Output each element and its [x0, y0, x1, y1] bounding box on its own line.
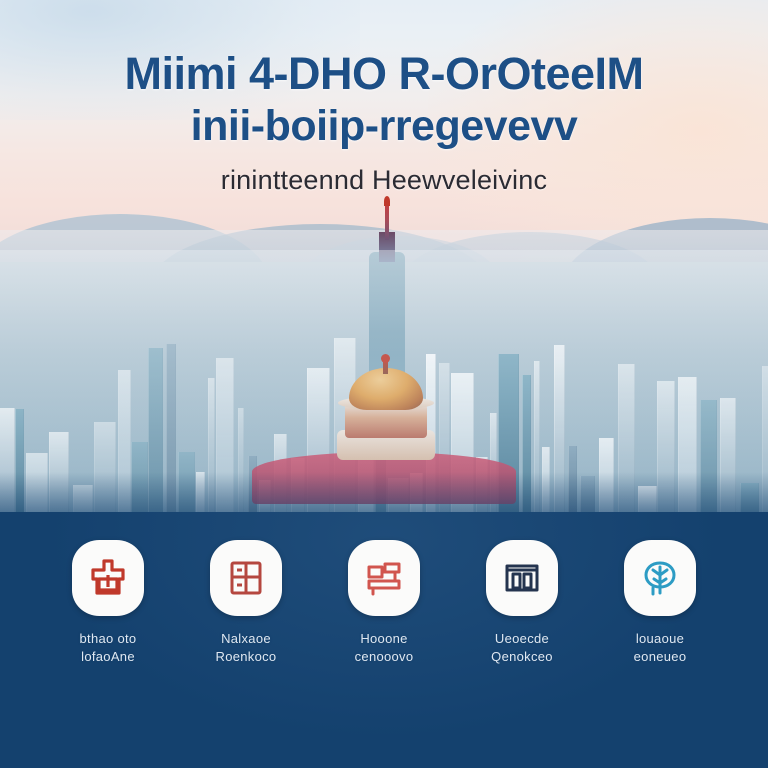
skyline-building — [94, 422, 116, 512]
feature-label-line-2: Roenkoco — [216, 648, 277, 666]
feature-label: Ueoecde Qenokceo — [491, 630, 553, 666]
skyline-building — [73, 485, 93, 512]
feature-item[interactable]: Ueoecde Qenokceo — [466, 540, 578, 666]
feature-item[interactable]: Hooone cenooovo — [328, 540, 440, 666]
abstract-glyph-icon — [361, 555, 407, 601]
feature-badge[interactable] — [348, 540, 420, 616]
skyline-building — [678, 377, 697, 512]
skyline-building — [638, 486, 657, 512]
feature-badge[interactable] — [210, 540, 282, 616]
feature-label-line-2: lofaoAne — [80, 648, 137, 666]
feature-label: louaoue eoneueo — [634, 630, 687, 666]
skyline-building — [196, 472, 205, 512]
skyline-building — [0, 408, 15, 512]
central-tower-spire — [385, 200, 389, 240]
feature-label-line-2: eoneueo — [634, 648, 687, 666]
skyline-building — [166, 344, 176, 512]
skyline-building — [49, 432, 69, 512]
window-grid-icon — [223, 555, 269, 601]
feature-badge[interactable] — [624, 540, 696, 616]
skyline-building — [554, 345, 565, 512]
skyline-building — [740, 483, 759, 512]
skyline-building — [700, 400, 717, 512]
skyline-building — [15, 409, 24, 512]
skyline-building — [580, 476, 595, 512]
feature-panel: bthao oto lofaoAne — [0, 512, 768, 768]
poster-root: Miimi 4-DHO R-OrOteeIM inii-boiip-rregev… — [0, 0, 768, 768]
feature-badge[interactable] — [486, 540, 558, 616]
skyline-building — [522, 375, 531, 512]
skyline-building — [568, 446, 577, 512]
skyline-building — [216, 358, 234, 512]
skyline-building — [599, 438, 614, 512]
feature-label-line-1: Nalxaoe — [216, 630, 277, 648]
skyline-building — [534, 361, 540, 512]
skyline-building — [542, 447, 550, 512]
gateway-pillars-icon — [499, 555, 545, 601]
skyline-building — [618, 364, 635, 512]
hero-title-line-1: Miimi 4-DHO R-OrOteeIM — [0, 48, 768, 100]
feature-label-line-1: bthao oto — [80, 630, 137, 648]
skyline-building — [148, 348, 163, 512]
building-stamp-icon — [85, 555, 131, 601]
feature-label: bthao oto lofaoAne — [80, 630, 137, 666]
feature-label: Hooone cenooovo — [355, 630, 414, 666]
skyline-building — [208, 378, 215, 512]
feature-label-line-2: cenooovo — [355, 648, 414, 666]
hero-title-line-2: inii-boiip-rregevevv — [0, 100, 768, 152]
feature-item[interactable]: Nalxaoe Roenkoco — [190, 540, 302, 666]
hero-subtitle: rinintteennd Heewveleivinc — [0, 164, 768, 196]
feature-label-line-1: Hooone — [355, 630, 414, 648]
landmark-finial-ball — [381, 354, 390, 363]
feature-label-line-1: louaoue — [634, 630, 687, 648]
skyline-building — [178, 452, 195, 512]
skyline-building — [26, 453, 48, 512]
hero-title-block: Miimi 4-DHO R-OrOteeIM inii-boiip-rregev… — [0, 48, 768, 196]
feature-label-line-1: Ueoecde — [491, 630, 553, 648]
feature-list: bthao oto lofaoAne — [0, 540, 768, 666]
skyline-building — [657, 381, 675, 512]
skyline-building — [131, 442, 148, 512]
skyline-building — [238, 408, 244, 512]
central-tower-tip — [384, 196, 390, 206]
skyline-building — [720, 398, 736, 512]
skyline-building — [762, 366, 768, 512]
feature-item[interactable]: louaoue eoneueo — [604, 540, 716, 666]
feature-badge[interactable] — [72, 540, 144, 616]
feature-item[interactable]: bthao oto lofaoAne — [52, 540, 164, 666]
feature-label-line-2: Qenokceo — [491, 648, 553, 666]
tree-network-icon — [637, 555, 683, 601]
skyline-building — [118, 370, 131, 512]
feature-label: Nalxaoe Roenkoco — [216, 630, 277, 666]
